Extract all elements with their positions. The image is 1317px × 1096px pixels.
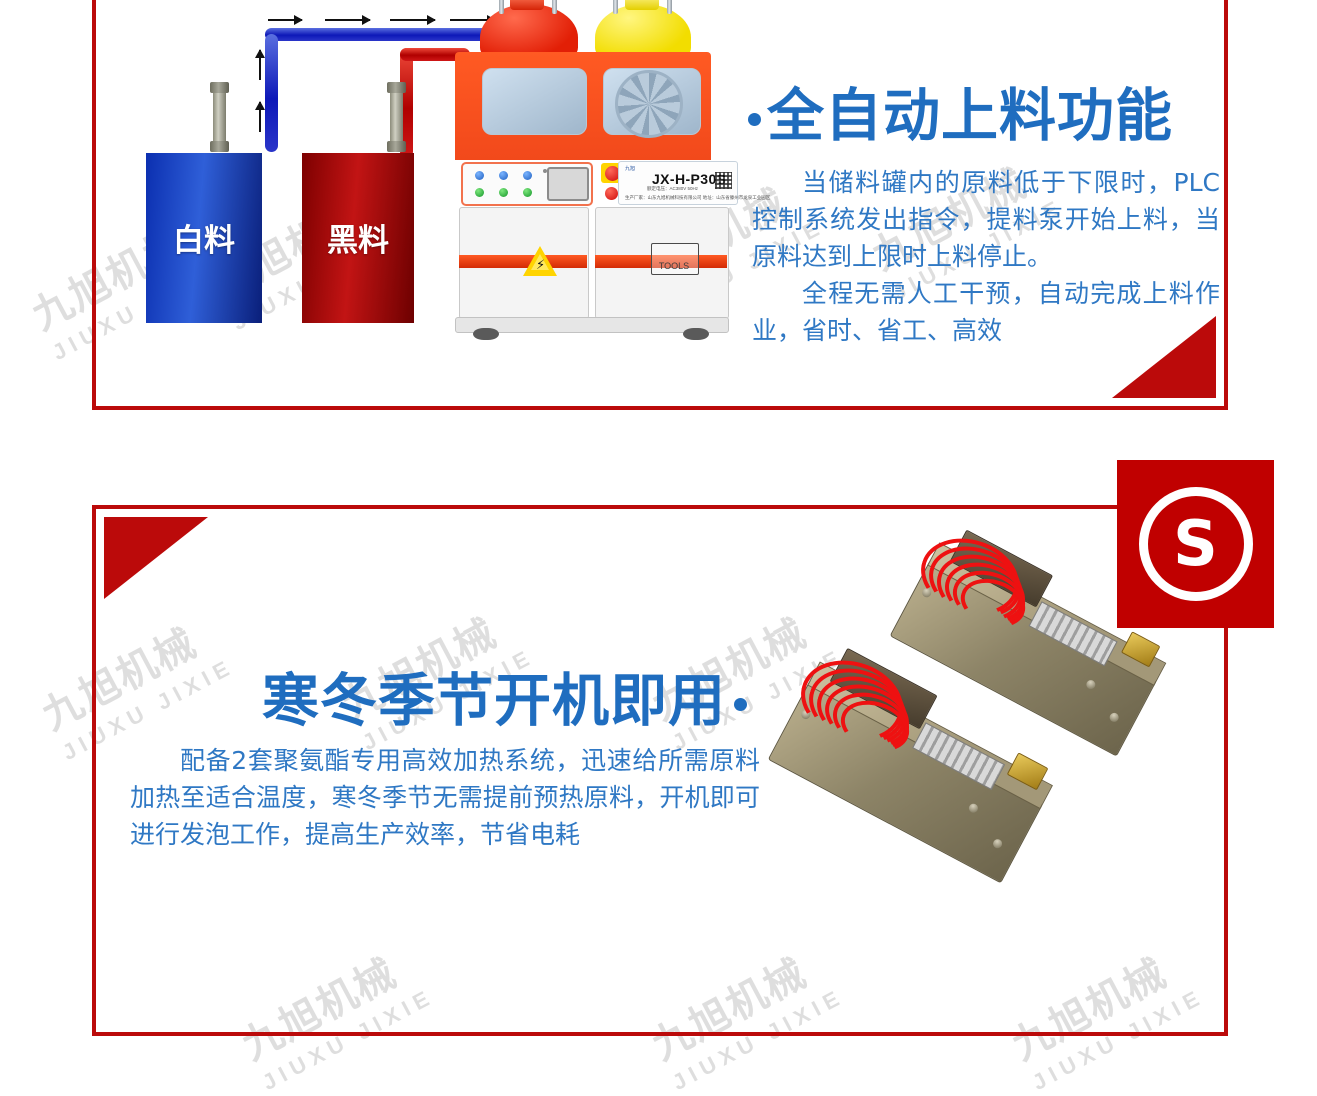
valve-red-line: [390, 88, 403, 146]
section-1-heading: 全自动上料功能: [767, 83, 1173, 149]
valve-cap: [387, 141, 406, 152]
flow-arrow-icon: [259, 102, 261, 132]
tank-stack: [613, 0, 618, 14]
tank-neck-yellow: [625, 0, 659, 10]
indicator-button-blue[interactable]: [475, 171, 484, 180]
tools-box-icon: TOOLS: [651, 243, 699, 275]
section-2-heading: 寒冬季节开机即用: [262, 668, 726, 734]
reset-button[interactable]: [605, 187, 618, 200]
indicator-button-blue[interactable]: [523, 171, 532, 180]
bullet-dot-icon: [734, 698, 747, 711]
spec-line-2: 生产厂家：山东九旭机械科技有限公司 地址：山东省滕州市龙泉工业园区: [625, 195, 770, 201]
section-1-paragraph-2: 全程无需人工干预，自动完成上料作业，省时、省工、高效: [752, 275, 1220, 349]
pipe-blue-vertical: [265, 34, 278, 152]
hazard-bolt-glyph: ⚡: [536, 258, 545, 271]
machine-foot: [473, 328, 499, 340]
drum-black-label: 黑料: [302, 215, 414, 260]
section-2-paragraph-1: 配备2套聚氨酯专用高效加热系统，迅速给所需原料加热至适合温度，寒冬季节无需提前预…: [130, 742, 760, 853]
flow-arrow-icon: [325, 19, 370, 21]
indicator-button-blue[interactable]: [499, 171, 508, 180]
machine-foot: [683, 328, 709, 340]
flow-arrow-icon: [390, 19, 435, 21]
tank-stack: [667, 0, 672, 14]
indicator-button-green[interactable]: [499, 188, 508, 197]
tank-stack: [552, 0, 557, 14]
valve-cap: [387, 82, 406, 93]
qr-code: [715, 172, 732, 189]
section-1-paragraph-1: 当储料罐内的原料低于下限时，PLC控制系统发出指令，提料泵开始上料，当原料达到上…: [752, 164, 1220, 275]
drum-white-label: 白料: [146, 215, 262, 260]
valve-blue-line: [213, 88, 226, 146]
tank-stack: [499, 0, 504, 14]
indicator-button-green[interactable]: [523, 188, 532, 197]
section-1-heading-row: 全自动上料功能: [748, 70, 1173, 152]
electrical-hazard-icon: ⚡: [523, 246, 557, 276]
machine-spec-plate: JX-H-P30S 九旭 额定电压：AC380V 50Hz 生产厂家：山东九旭机…: [618, 161, 738, 205]
spec-line-1: 额定电压：AC380V 50Hz: [647, 186, 698, 192]
section-1-body: 当储料罐内的原料低于下限时，PLC控制系统发出指令，提料泵开始上料，当原料达到上…: [752, 164, 1220, 349]
drum-black-material: 黑料: [302, 153, 414, 323]
indicator-button-green[interactable]: [475, 188, 484, 197]
corner-triangle-decoration: [104, 517, 208, 599]
machine-brand-label: 九旭: [625, 165, 635, 172]
flow-arrow-icon: [268, 19, 302, 21]
machine-window-left: [482, 68, 587, 135]
valve-cap: [210, 141, 229, 152]
tools-label: TOOLS: [652, 261, 696, 271]
section-2-body: 配备2套聚氨酯专用高效加热系统，迅速给所需原料加热至适合温度，寒冬季节无需提前预…: [130, 742, 760, 853]
mixer-fan-icon: [615, 70, 683, 138]
flow-arrow-icon: [259, 50, 261, 80]
hmi-touchscreen[interactable]: [547, 167, 589, 201]
heater-assembly-photo: [800, 530, 1225, 930]
tank-neck-red: [510, 0, 544, 10]
machine-illustration: JX-H-P30S 九旭 额定电压：AC380V 50Hz 生产厂家：山东九旭机…: [455, 0, 725, 355]
bullet-dot-icon: [748, 113, 761, 126]
product-detail-page: 九旭机械 JIUXU JIXIE 九旭机械 JIUXU JIXIE 九旭机械 J…: [0, 0, 1317, 1038]
valve-cap: [210, 82, 229, 93]
section-2-heading-row: 寒冬季节开机即用: [262, 655, 747, 737]
drum-white-material: 白料: [146, 153, 262, 323]
